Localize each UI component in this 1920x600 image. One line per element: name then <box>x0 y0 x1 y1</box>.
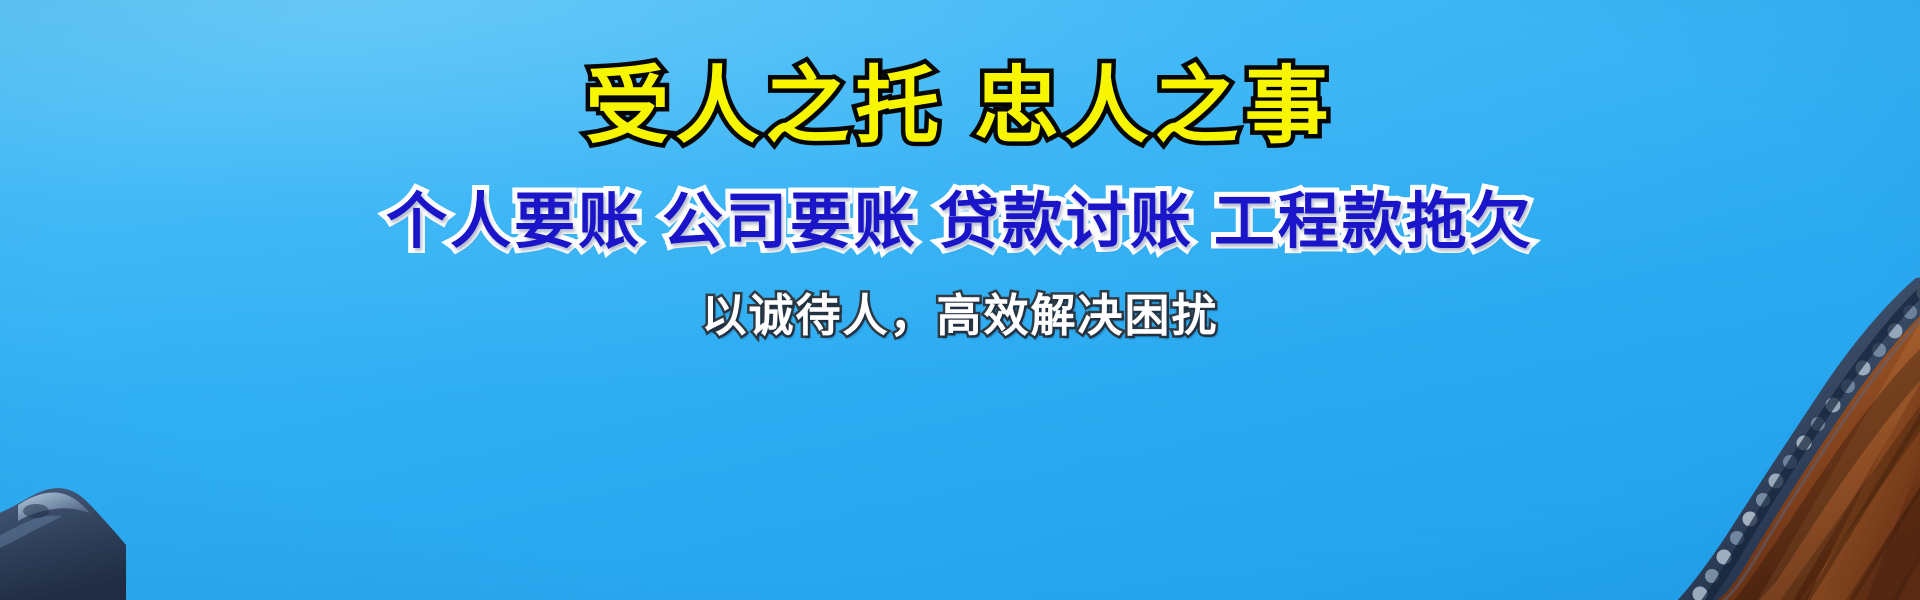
banner-services-subtitle: 个人要账 公司要账 贷款讨账 工程款拖欠 <box>386 189 1534 255</box>
banner-text-stack: 受人之托 忠人之事 个人要账 公司要账 贷款讨账 工程款拖欠 以诚待人，高效解决… <box>0 0 1920 600</box>
banner-tagline: 以诚待人，高效解决困扰 <box>701 291 1218 341</box>
debt-collection-banner: 受人之托 忠人之事 个人要账 公司要账 贷款讨账 工程款拖欠 以诚待人，高效解决… <box>0 0 1920 600</box>
banner-headline: 受人之托 忠人之事 <box>585 62 1334 151</box>
